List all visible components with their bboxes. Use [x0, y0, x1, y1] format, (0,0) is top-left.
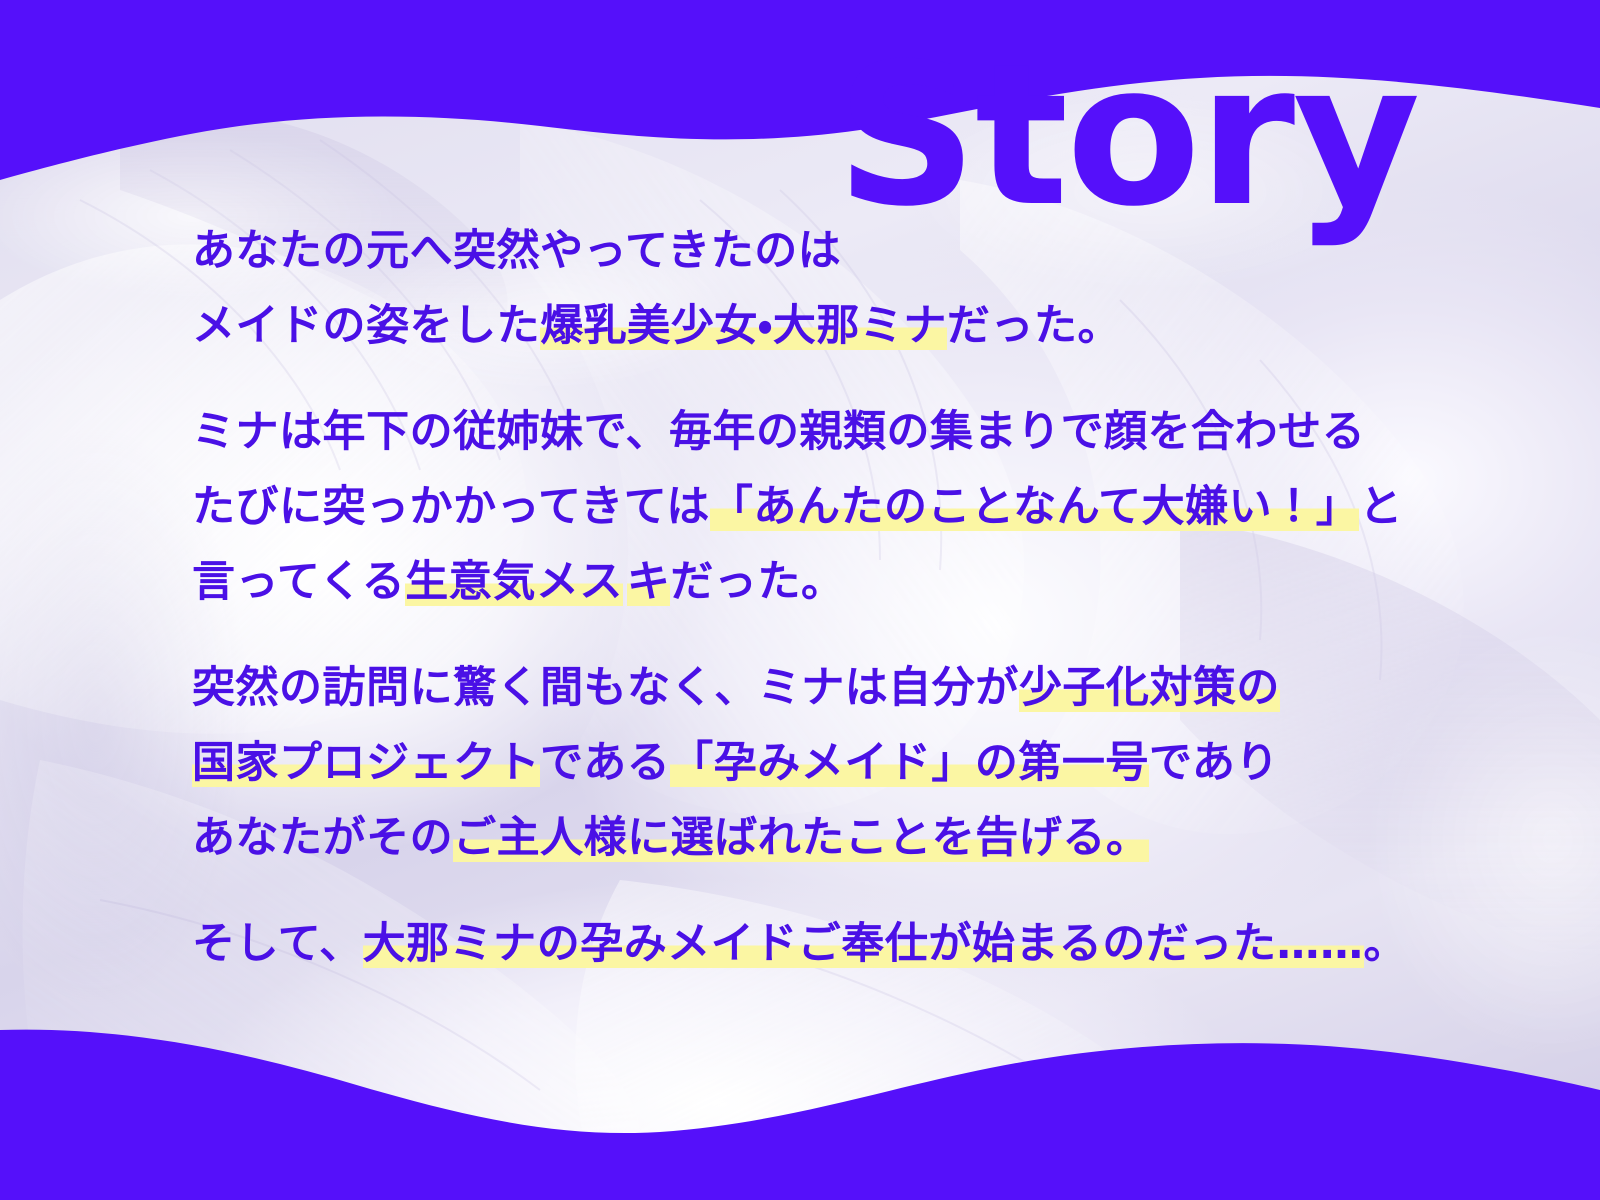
story-text: メイドの姿をした	[192, 301, 540, 351]
story-paragraph: 突然の訪問に驚く間もなく、ミナは自分が少子化対策の国家プロジェクトである「孕みメ…	[192, 651, 1492, 876]
story-text-highlighted: キ	[627, 557, 671, 608]
story-text: あなたの元へ突然やってきたのは	[192, 226, 841, 276]
story-text: たびに突っかかってきては	[192, 482, 710, 532]
story-text: 突然の訪問に驚く間もなく、ミナは自分が	[192, 663, 1019, 713]
story-line: メイドの姿をした爆乳美少女・大那ミナだった。	[192, 289, 1492, 364]
story-paragraph: あなたの元へ突然やってきたのはメイドの姿をした爆乳美少女・大那ミナだった。	[192, 214, 1492, 364]
story-text-highlighted: 「孕みメイド」の第一号	[670, 738, 1149, 789]
story-text: であり	[1149, 738, 1279, 788]
story-line: あなたがそのご主人様に選ばれたことを告げる。	[192, 801, 1492, 876]
story-line: そして、大那ミナの孕みメイドご奉仕が始まるのだった……。	[192, 907, 1492, 982]
story-text-highlighted: 少子化対策の	[1019, 663, 1280, 714]
story-body: あなたの元へ突然やってきたのはメイドの姿をした爆乳美少女・大那ミナだった。ミナは…	[192, 214, 1492, 982]
story-text: そして、	[192, 919, 363, 969]
story-text: である	[540, 738, 670, 788]
story-page: Story あなたの元へ突然やってきたのはメイドの姿をした爆乳美少女・大那ミナだ…	[0, 0, 1600, 1200]
story-line: 言ってくる生意気メスキだった。	[192, 545, 1492, 620]
story-text: と	[1359, 482, 1403, 532]
story-text-highlighted: 爆乳美少女・大那ミナ	[540, 301, 947, 352]
story-text: 。	[1364, 919, 1408, 969]
story-text: 言ってくる	[192, 557, 405, 607]
story-line: あなたの元へ突然やってきたのは	[192, 214, 1492, 289]
story-text: ミナは年下の従姉妹で、毎年の親類の集まりで顔を合わせる	[192, 407, 1365, 457]
page-title: Story	[836, 38, 1418, 234]
story-text-highlighted: 国家プロジェクト	[192, 738, 540, 789]
story-paragraph: ミナは年下の従姉妹で、毎年の親類の集まりで顔を合わせるたびに突っかかってきては「…	[192, 395, 1492, 620]
story-line: ミナは年下の従姉妹で、毎年の親類の集まりで顔を合わせる	[192, 395, 1492, 470]
story-text-highlighted: 生意気メス	[405, 557, 623, 608]
story-paragraph: そして、大那ミナの孕みメイドご奉仕が始まるのだった……。	[192, 907, 1492, 982]
story-line: 突然の訪問に驚く間もなく、ミナは自分が少子化対策の	[192, 651, 1492, 726]
story-line: 国家プロジェクトである「孕みメイド」の第一号であり	[192, 726, 1492, 801]
story-text: あなたがその	[192, 813, 453, 863]
story-text-highlighted: ご主人様に選ばれたことを告げる。	[453, 813, 1149, 864]
story-text: だった。	[670, 557, 844, 607]
story-line: たびに突っかかってきては「あんたのことなんて大嫌い！」と	[192, 470, 1492, 545]
story-text-highlighted: 「あんたのことなんて大嫌い！」	[710, 482, 1359, 533]
story-text: だった。	[947, 301, 1121, 351]
story-text-highlighted: 大那ミナの孕みメイドご奉仕が始まるのだった……	[363, 919, 1364, 970]
